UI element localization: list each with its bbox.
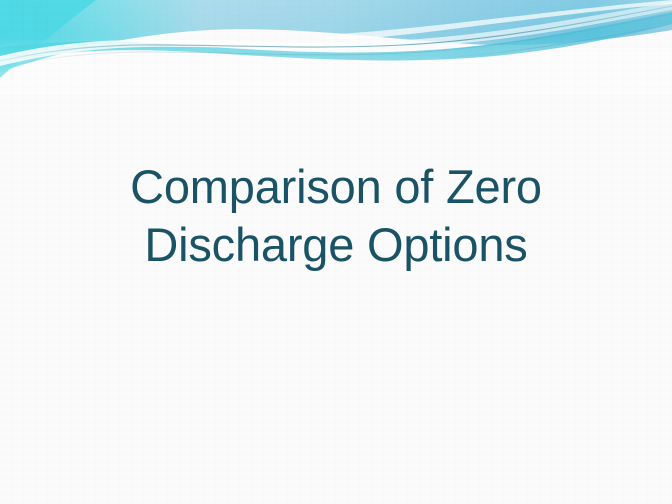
slide-canvas: Comparison of Zero Discharge Options: [0, 0, 672, 504]
wave-banner-decoration: [0, 0, 672, 96]
banner-bottom-fade: [0, 36, 672, 96]
title-line-1: Comparison of Zero: [48, 158, 624, 216]
page-title: Comparison of Zero Discharge Options: [0, 158, 672, 274]
title-line-2: Discharge Options: [48, 216, 624, 274]
wave-banner-graphic: [0, 0, 672, 96]
